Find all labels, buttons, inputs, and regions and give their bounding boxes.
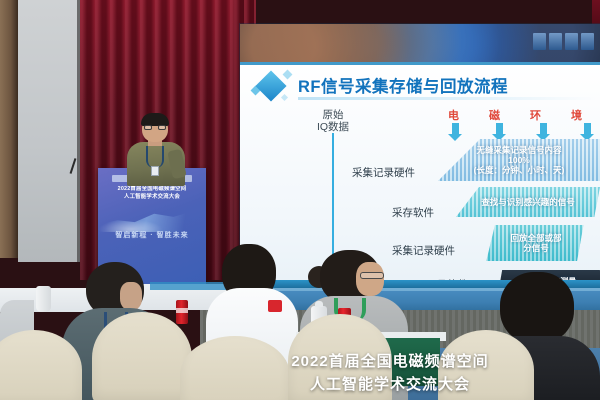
- flow-input-label: 原始 IQ数据: [298, 109, 368, 133]
- projection-screen: RF信号采集存储与回放流程 原始 IQ数据 信息 电 磁 环 境: [240, 24, 600, 288]
- callout-2-line1: 回放全部或部: [510, 233, 561, 243]
- chair-back-5: [438, 330, 534, 400]
- em-environment-label: 电 磁 环 境: [448, 107, 582, 123]
- audience-member-4-head: [500, 272, 574, 344]
- callout-search: 查找与识别感兴趣的信号: [456, 187, 600, 217]
- chair-back-2: [92, 312, 192, 400]
- audience-member-3-face: [356, 262, 384, 296]
- audience-member-1-face: [120, 282, 142, 310]
- callout-0-line1: 无缝采集记录信号内容: [474, 145, 565, 155]
- stage-label-0: 采集记录硬件: [352, 165, 415, 180]
- slide-title-row: RF信号采集存储与回放流程: [252, 71, 592, 101]
- callout-1-line1: 查找与识别感兴趣的信号: [481, 197, 575, 207]
- flow-arrow-down-icon: [332, 133, 334, 271]
- flow-input-line1: 原始: [298, 109, 368, 121]
- callout-2-line2: 分信号: [510, 243, 561, 253]
- speaker-glasses-icon: [144, 125, 166, 130]
- diamond-accent-tiny-icon: [281, 94, 288, 101]
- audience-member-3-glasses-icon: [360, 272, 384, 279]
- slide-header-image: [240, 24, 600, 62]
- lectern-slogan: 智启新程 · 智胜未来: [98, 230, 206, 240]
- lectern-title-line2: 人工智能学术交流大会: [98, 192, 206, 200]
- em-char-1: 磁: [489, 107, 500, 123]
- slide-body: RF信号采集存储与回放流程 原始 IQ数据 信息 电 磁 环 境: [240, 65, 600, 280]
- slide-title-underline: [298, 97, 598, 100]
- callout-capture: 无缝采集记录信号内容 100% (长度：分钟、小时、天): [438, 139, 600, 181]
- em-char-0: 电: [448, 107, 459, 123]
- stage-label-2: 采集记录硬件: [392, 243, 455, 258]
- lectern-waveform-graphic: [98, 206, 206, 232]
- conference-photo: RF信号采集存储与回放流程 原始 IQ数据 信息 电 磁 环 境: [0, 0, 600, 400]
- slide-header-thumbnails: [533, 33, 594, 50]
- callout-0-line2: 100%: [474, 155, 565, 165]
- em-char-2: 环: [530, 107, 541, 123]
- flow-input-line2: IQ数据: [298, 121, 368, 133]
- callout-playback: 回放全部或部 分信号: [482, 225, 590, 261]
- paper-cup-left: [36, 286, 51, 312]
- soda-can-left: [176, 300, 188, 324]
- speaker-badge: [151, 166, 159, 176]
- wall-panel: [18, 0, 80, 262]
- stage-label-1: 采存软件: [392, 205, 434, 220]
- callout-0-line3: (长度：分钟、小时、天): [474, 165, 565, 175]
- diamond-accent-small-icon: [283, 70, 293, 80]
- wall-left-trim: [0, 0, 18, 258]
- chair-back-4: [288, 314, 392, 400]
- em-arrows-icon: [452, 123, 591, 134]
- audience-member-2-logo: [268, 300, 282, 312]
- slide-title: RF信号采集存储与回放流程: [298, 73, 508, 97]
- em-char-3: 境: [571, 107, 582, 123]
- speaker-lanyard: [146, 146, 164, 168]
